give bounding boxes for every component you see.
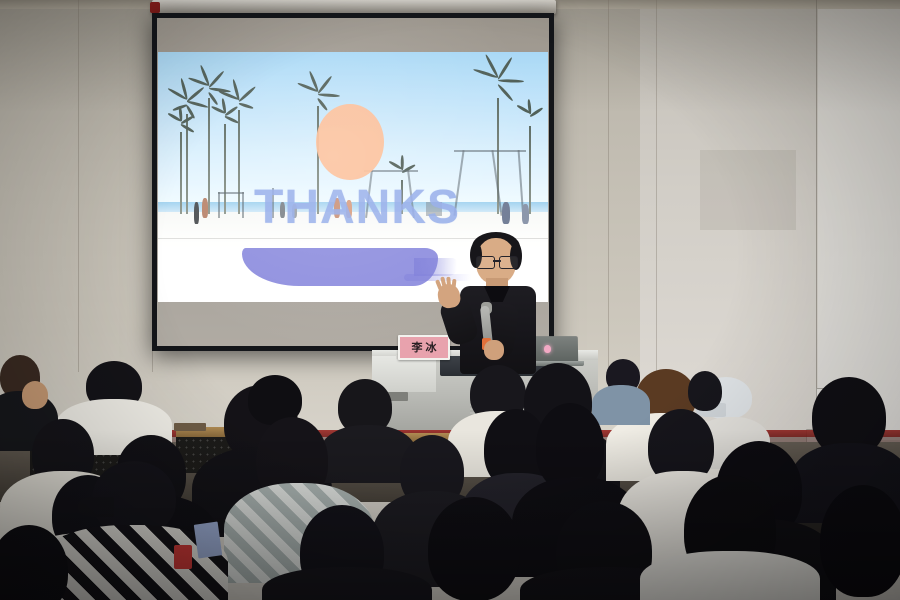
audience-area — [0, 355, 900, 600]
phone[interactable] — [174, 545, 192, 569]
phone-screen[interactable] — [194, 521, 222, 558]
lecture-hall-photo: THANKS 李 冰 — [0, 0, 900, 600]
palm-tree-icon — [166, 118, 196, 214]
presenter — [440, 232, 562, 372]
beach-rig-structure — [454, 150, 526, 152]
wall-seam — [78, 0, 79, 372]
audience-head — [688, 371, 722, 411]
screen-roller-cap — [150, 2, 160, 13]
audience-head — [820, 485, 900, 597]
cap-brim-icon — [78, 497, 114, 517]
desk-item-book — [174, 423, 206, 431]
nameplate-char-2: 冰 — [426, 342, 437, 353]
beach-figure — [194, 202, 199, 224]
palm-tree-icon — [224, 96, 254, 214]
wall-seam — [656, 0, 657, 412]
audience-head — [428, 497, 520, 600]
audience-shoulders — [640, 551, 820, 600]
beach-figure — [502, 202, 510, 224]
audience-head — [22, 381, 48, 409]
beach-rig-structure — [218, 192, 244, 194]
slide-headline: THANKS — [254, 184, 460, 232]
nameplate-char-1: 李 — [412, 342, 423, 353]
slide-sun-circle — [316, 104, 384, 180]
wall-seam — [608, 0, 609, 392]
beach-figure — [522, 204, 529, 224]
wall-stain-patch — [700, 150, 796, 230]
eyeglasses-icon — [476, 256, 518, 267]
audience-shoulders — [592, 385, 650, 425]
beach-figure — [202, 198, 208, 218]
beach-rig-structure — [218, 192, 220, 218]
screen-roller-housing[interactable] — [152, 0, 556, 14]
beach-rig-structure — [242, 192, 244, 218]
